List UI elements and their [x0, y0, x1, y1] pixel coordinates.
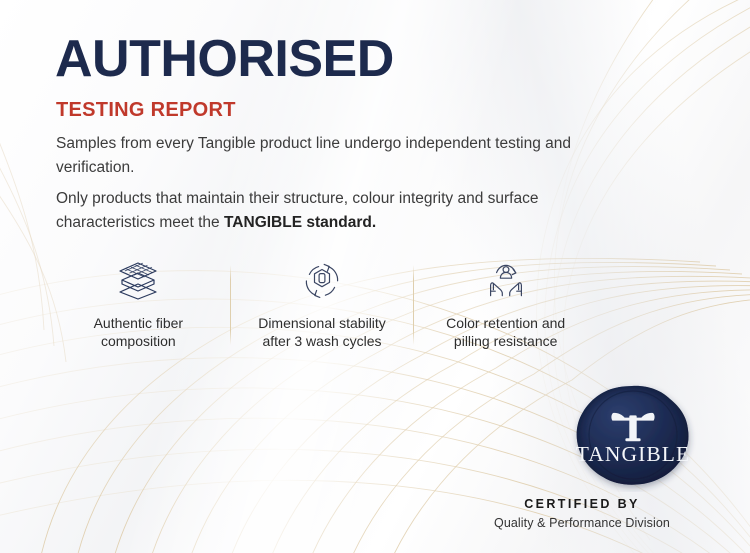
- certificate-footer: CERTIFIED BY Quality & Performance Divis…: [452, 497, 712, 530]
- feature-dimensional-stability: Dimensional stability after 3 wash cycle…: [231, 258, 414, 351]
- feature-label: Dimensional stability after 3 wash cycle…: [258, 314, 386, 351]
- seal-brand-text: TANGIBLE: [576, 442, 691, 466]
- feature-label-line-2: pilling resistance: [454, 333, 558, 349]
- headline-authorised: AUTHORISED: [55, 33, 394, 85]
- feature-label-line-1: Color retention and: [446, 315, 565, 331]
- certificate-card: AUTHORISED TESTING REPORT Samples from e…: [0, 0, 750, 553]
- certificate-content: AUTHORISED TESTING REPORT Samples from e…: [0, 0, 750, 553]
- feature-label: Authentic fiber composition: [94, 314, 184, 351]
- standard-paragraph: Only products that maintain their struct…: [56, 187, 631, 235]
- feature-label-line-2: composition: [101, 333, 176, 349]
- wax-seal: TANGIBLE: [565, 382, 700, 492]
- hands-care-person-icon: [484, 258, 528, 304]
- wash-cycle-rotation-icon: [301, 258, 343, 304]
- issuing-division-label: Quality & Performance Division: [452, 516, 712, 530]
- feature-label-line-2: after 3 wash cycles: [262, 333, 381, 349]
- feature-color-retention: Color retention and pilling resistance: [414, 258, 597, 351]
- certified-by-label: CERTIFIED BY: [452, 497, 712, 511]
- feature-label: Color retention and pilling resistance: [446, 314, 565, 351]
- feature-label-line-1: Dimensional stability: [258, 315, 386, 331]
- feature-list: Authentic fiber composition: [47, 258, 597, 351]
- intro-paragraph: Samples from every Tangible product line…: [56, 132, 631, 180]
- feature-authentic-fiber: Authentic fiber composition: [47, 258, 230, 351]
- tangible-standard-emphasis: TANGIBLE standard.: [224, 214, 376, 231]
- feature-label-line-1: Authentic fiber: [94, 315, 184, 331]
- layered-fabric-stack-icon: [116, 258, 160, 304]
- subheadline-testing-report: TESTING REPORT: [56, 99, 236, 121]
